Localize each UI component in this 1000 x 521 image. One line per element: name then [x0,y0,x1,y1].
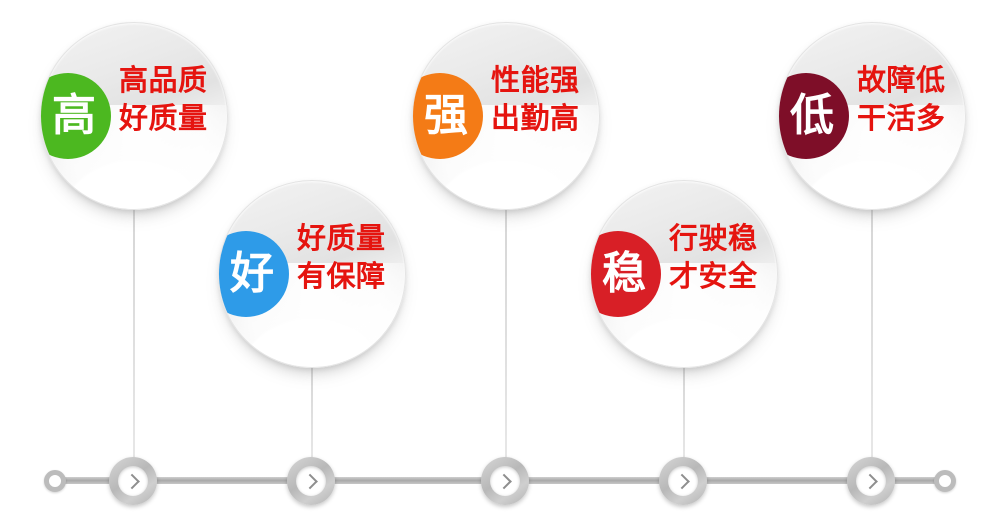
timeline-node-inner-3 [490,466,520,496]
badge-quality: 高 [40,73,111,159]
timeline-node-inner-4 [668,466,698,496]
timeline-node-4[interactable] [659,457,707,505]
connector-stem-assurance [311,366,313,460]
timeline-node-inner-5 [856,466,886,496]
feature-text-assurance: 好质量有保障 [297,219,406,296]
feature-bubble-reliability[interactable]: 低故障低干活多 [778,22,966,210]
feature-line2-reliability: 干活多 [857,99,966,137]
timeline-node-2[interactable] [287,457,335,505]
feature-line1-reliability: 故障低 [857,63,946,97]
timeline-end-cap-left [44,470,66,492]
connector-stem-stability [683,366,685,460]
feature-line2-stability: 才安全 [669,257,778,295]
feature-line1-quality: 高品质 [119,63,208,97]
feature-bubble-stability[interactable]: 稳行驶稳才安全 [590,180,778,368]
badge-reliability: 低 [778,73,849,159]
feature-line2-performance: 出勤高 [491,99,600,137]
feature-line1-assurance: 好质量 [297,221,386,255]
feature-text-performance: 性能强出勤高 [491,61,600,138]
connector-stem-reliability [871,208,873,460]
feature-line1-performance: 性能强 [491,63,580,97]
chevron-right-icon [496,473,512,489]
timeline-node-5[interactable] [847,457,895,505]
infographic-canvas: 高高品质好质量好好质量有保障强性能强出勤高稳行驶稳才安全低故障低干活多 [0,0,1000,521]
feature-text-stability: 行驶稳才安全 [669,219,778,296]
connector-stem-quality [133,208,135,460]
timeline-node-inner-1 [118,466,148,496]
connector-stem-performance [505,208,507,460]
chevron-right-icon [862,473,878,489]
timeline-node-inner-2 [296,466,326,496]
feature-bubble-performance[interactable]: 强性能强出勤高 [412,22,600,210]
feature-text-reliability: 故障低干活多 [857,61,966,138]
chevron-right-icon [124,473,140,489]
feature-line2-quality: 好质量 [119,99,228,137]
timeline-node-1[interactable] [109,457,157,505]
badge-performance: 强 [412,73,483,159]
feature-text-quality: 高品质好质量 [119,61,228,138]
chevron-right-icon [302,473,318,489]
feature-line1-stability: 行驶稳 [669,221,758,255]
timeline-node-3[interactable] [481,457,529,505]
feature-line2-assurance: 有保障 [297,257,406,295]
feature-bubble-assurance[interactable]: 好好质量有保障 [218,180,406,368]
feature-bubble-quality[interactable]: 高高品质好质量 [40,22,228,210]
timeline-end-cap-right [934,470,956,492]
chevron-right-icon [674,473,690,489]
badge-assurance: 好 [218,231,289,317]
badge-stability: 稳 [590,231,661,317]
